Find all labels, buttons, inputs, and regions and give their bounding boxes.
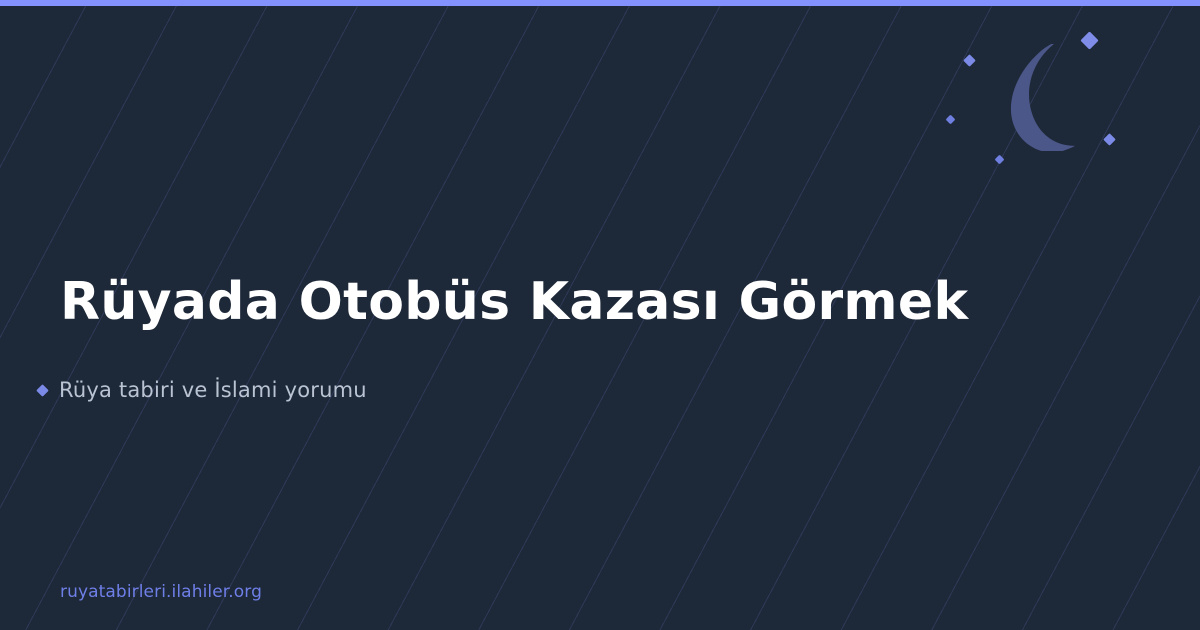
crescent-moon-icon <box>1005 44 1099 151</box>
subtitle-row: Rüya tabiri ve İslami yorumu <box>38 378 367 402</box>
diamond-bullet-icon <box>36 384 49 397</box>
social-share-card: Rüyada Otobüs Kazası Görmek Rüya tabiri … <box>0 0 1200 630</box>
subtitle-text: Rüya tabiri ve İslami yorumu <box>59 378 367 402</box>
star-3-icon <box>946 115 956 125</box>
site-url: ruyatabirleri.ilahiler.org <box>60 582 262 602</box>
top-accent-bar <box>0 0 1200 6</box>
star-4-icon <box>1103 133 1116 146</box>
page-title: Rüyada Otobüs Kazası Görmek <box>60 272 1120 332</box>
star-1-icon <box>963 54 976 67</box>
star-5-icon <box>995 155 1005 165</box>
